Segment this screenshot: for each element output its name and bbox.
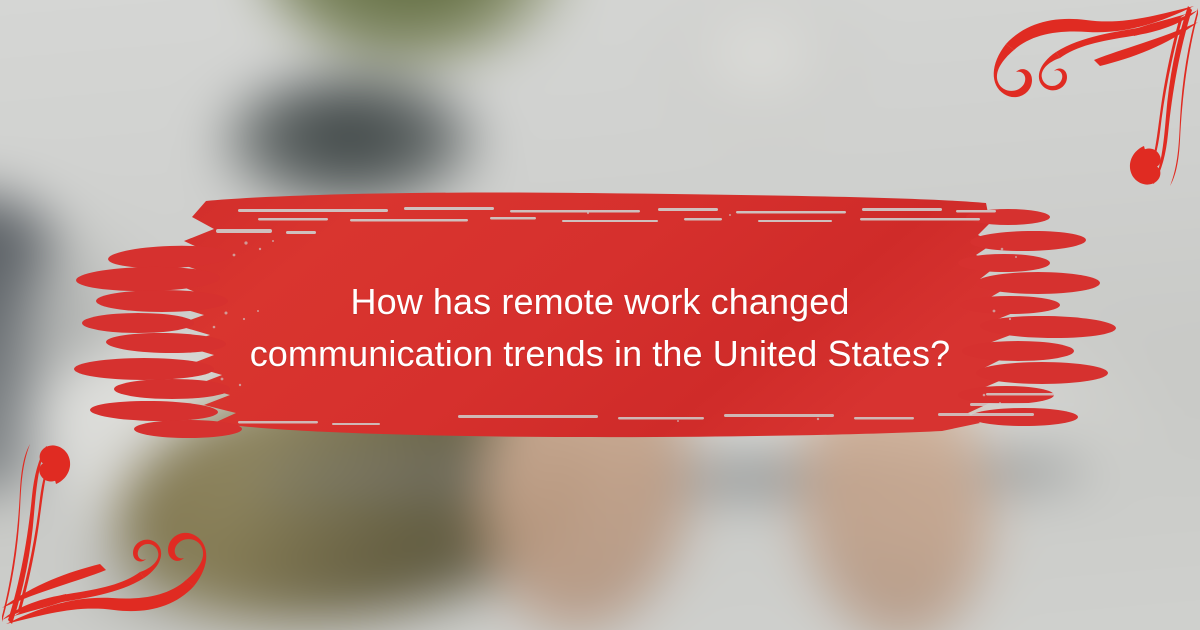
corner-flourish-top-right-icon bbox=[982, 0, 1200, 186]
share-card-canvas: How has remote work changed communicatio… bbox=[0, 0, 1200, 630]
corner-flourish-bottom-left-icon bbox=[0, 444, 218, 630]
red-brush-stroke bbox=[118, 183, 1082, 445]
brush-body bbox=[170, 192, 1018, 437]
